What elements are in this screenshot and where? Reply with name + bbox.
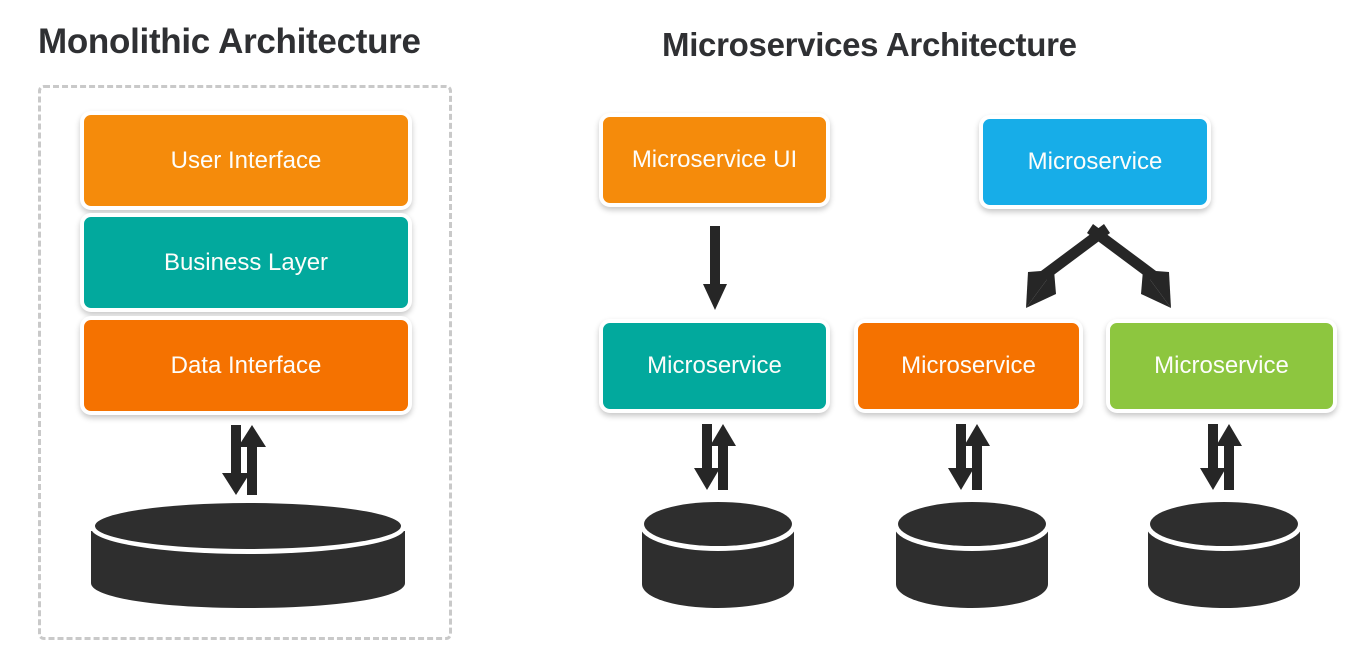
microservice-box-label: Microservice [901, 352, 1036, 380]
monolith-layer-label: Data Interface [171, 352, 322, 380]
monolith-database-cylinder [80, 497, 416, 617]
monolith-layer-user-interface[interactable]: User Interface [80, 111, 412, 210]
arrow-blue-to-green [1087, 222, 1177, 314]
microservice-box-orange[interactable]: Microservice [854, 319, 1083, 413]
service-db-arrow-pair-1 [688, 424, 742, 492]
database-cylinder-2 [886, 495, 1058, 617]
page-title-microservices: Microservices Architecture [662, 26, 1077, 64]
database-cylinder-1 [632, 495, 804, 617]
microservice-box-label: Microservice [1154, 352, 1289, 380]
monolith-layer-label: User Interface [171, 147, 322, 175]
monolith-layer-label: Business Layer [164, 249, 328, 277]
monolith-layer-data-interface[interactable]: Data Interface [80, 316, 412, 415]
monolith-db-arrow-pair [214, 425, 274, 497]
microservice-box-label: Microservice [647, 352, 782, 380]
arrow-ui-to-service [702, 226, 728, 312]
service-db-arrow-pair-3 [1194, 424, 1248, 492]
microservice-box-green[interactable]: Microservice [1106, 319, 1337, 413]
microservice-box-label: Microservice UI [632, 146, 797, 174]
database-cylinder-3 [1138, 495, 1310, 617]
microservice-ui-box[interactable]: Microservice UI [599, 113, 830, 207]
microservice-box-label: Microservice [1028, 148, 1163, 176]
page-title-monolithic: Monolithic Architecture [38, 22, 421, 62]
microservice-box-teal[interactable]: Microservice [599, 319, 830, 413]
monolith-layer-business-layer[interactable]: Business Layer [80, 213, 412, 312]
microservice-box-blue[interactable]: Microservice [979, 115, 1211, 209]
service-db-arrow-pair-2 [942, 424, 996, 492]
